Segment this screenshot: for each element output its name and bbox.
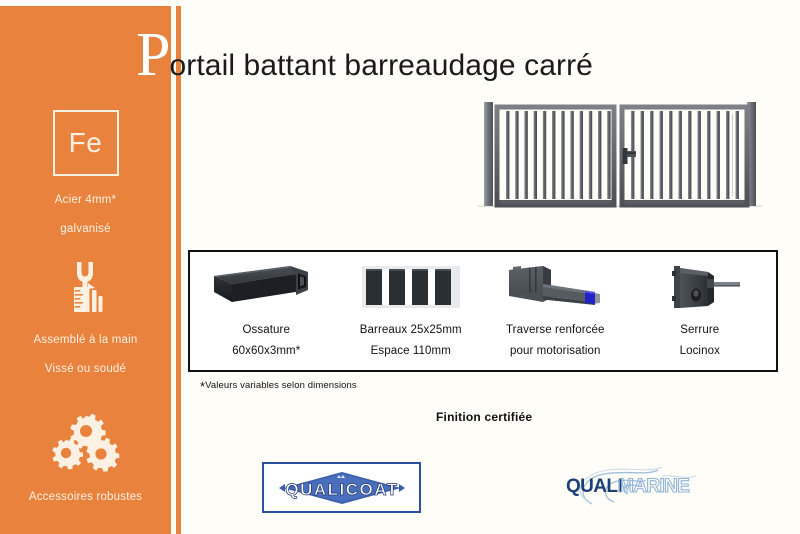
finition-certifiee-label: Finition certifiée (436, 410, 532, 424)
spec-item-barreaux: Barreaux 25x25mm Espace 110mm (339, 260, 484, 366)
fe-element-box-icon: Fe (53, 110, 119, 176)
spec-serrure-line1: Serrure (680, 323, 719, 337)
sidebar-feature-accessories: Accessoires robustes (0, 414, 171, 506)
footnote: *Valeurs variables selon dimensions (200, 380, 357, 393)
qualicoat-logo-text: QUALICOAT (285, 480, 398, 499)
gears-icon (0, 414, 171, 472)
sidebar-feature-assembly: Assemblé à la main Vissé ou soudé (0, 258, 171, 377)
page-title-initial: P (136, 26, 169, 85)
sidebar-feature-steel-line2: galvanisé (0, 221, 171, 238)
spec-item-ossature: Ossature 60x60x3mm* (194, 260, 339, 366)
qualicoat-logo: QUALICOAT (262, 462, 421, 513)
double-leaf-gate-illustration (470, 92, 770, 220)
orange-accent-stripe (176, 6, 181, 534)
sidebar-feature-accessories-line1: Accessoires robustes (0, 489, 171, 506)
page-title: P ortail battant barreaudage carré (136, 26, 593, 85)
spec-serrure-line2: Locinox (680, 344, 720, 358)
spec-barreaux-line2: Espace 110mm (371, 344, 451, 358)
footnote-text: Valeurs variables selon dimensions (205, 380, 357, 391)
sidebar-feature-steel-line1: Acier 4mm* (0, 192, 171, 209)
spec-ossature-line1: Ossature (243, 323, 290, 337)
reinforced-crossbar-icon (499, 260, 611, 315)
bars-spacing-icon (361, 260, 461, 315)
spec-barreaux-line1: Barreaux 25x25mm (360, 323, 462, 337)
spec-item-serrure: Serrure Locinox (628, 260, 773, 366)
sidebar-feature-steel: Fe Acier 4mm* galvanisé (0, 110, 171, 237)
sidebar-feature-assembly-line1: Assemblé à la main (0, 332, 171, 349)
lock-icon (652, 260, 748, 315)
fe-symbol-label: Fe (69, 129, 103, 157)
spec-traverse-line2: pour motorisation (510, 344, 601, 358)
page-title-text: ortail battant barreaudage carré (169, 49, 592, 83)
spec-traverse-line1: Traverse renforcée (506, 323, 605, 337)
product-sheet-page: Fe Acier 4mm* galvanisé (0, 0, 800, 534)
qualimarine-logo-text-quali: QUALI (566, 476, 622, 497)
spec-item-traverse: Traverse renforcée pour motorisation (483, 260, 628, 366)
wrench-assembly-icon (0, 258, 171, 316)
sidebar-feature-assembly-line2: Vissé ou soudé (0, 361, 171, 378)
qualimarine-logo-text-marine: MARINE (618, 476, 689, 497)
spec-ossature-line2: 60x60x3mm* (232, 344, 300, 358)
frame-profile-icon (212, 260, 320, 315)
qualimarine-logo: QUALI MARINE (562, 464, 712, 506)
specifications-panel: Ossature 60x60x3mm* (188, 250, 778, 372)
